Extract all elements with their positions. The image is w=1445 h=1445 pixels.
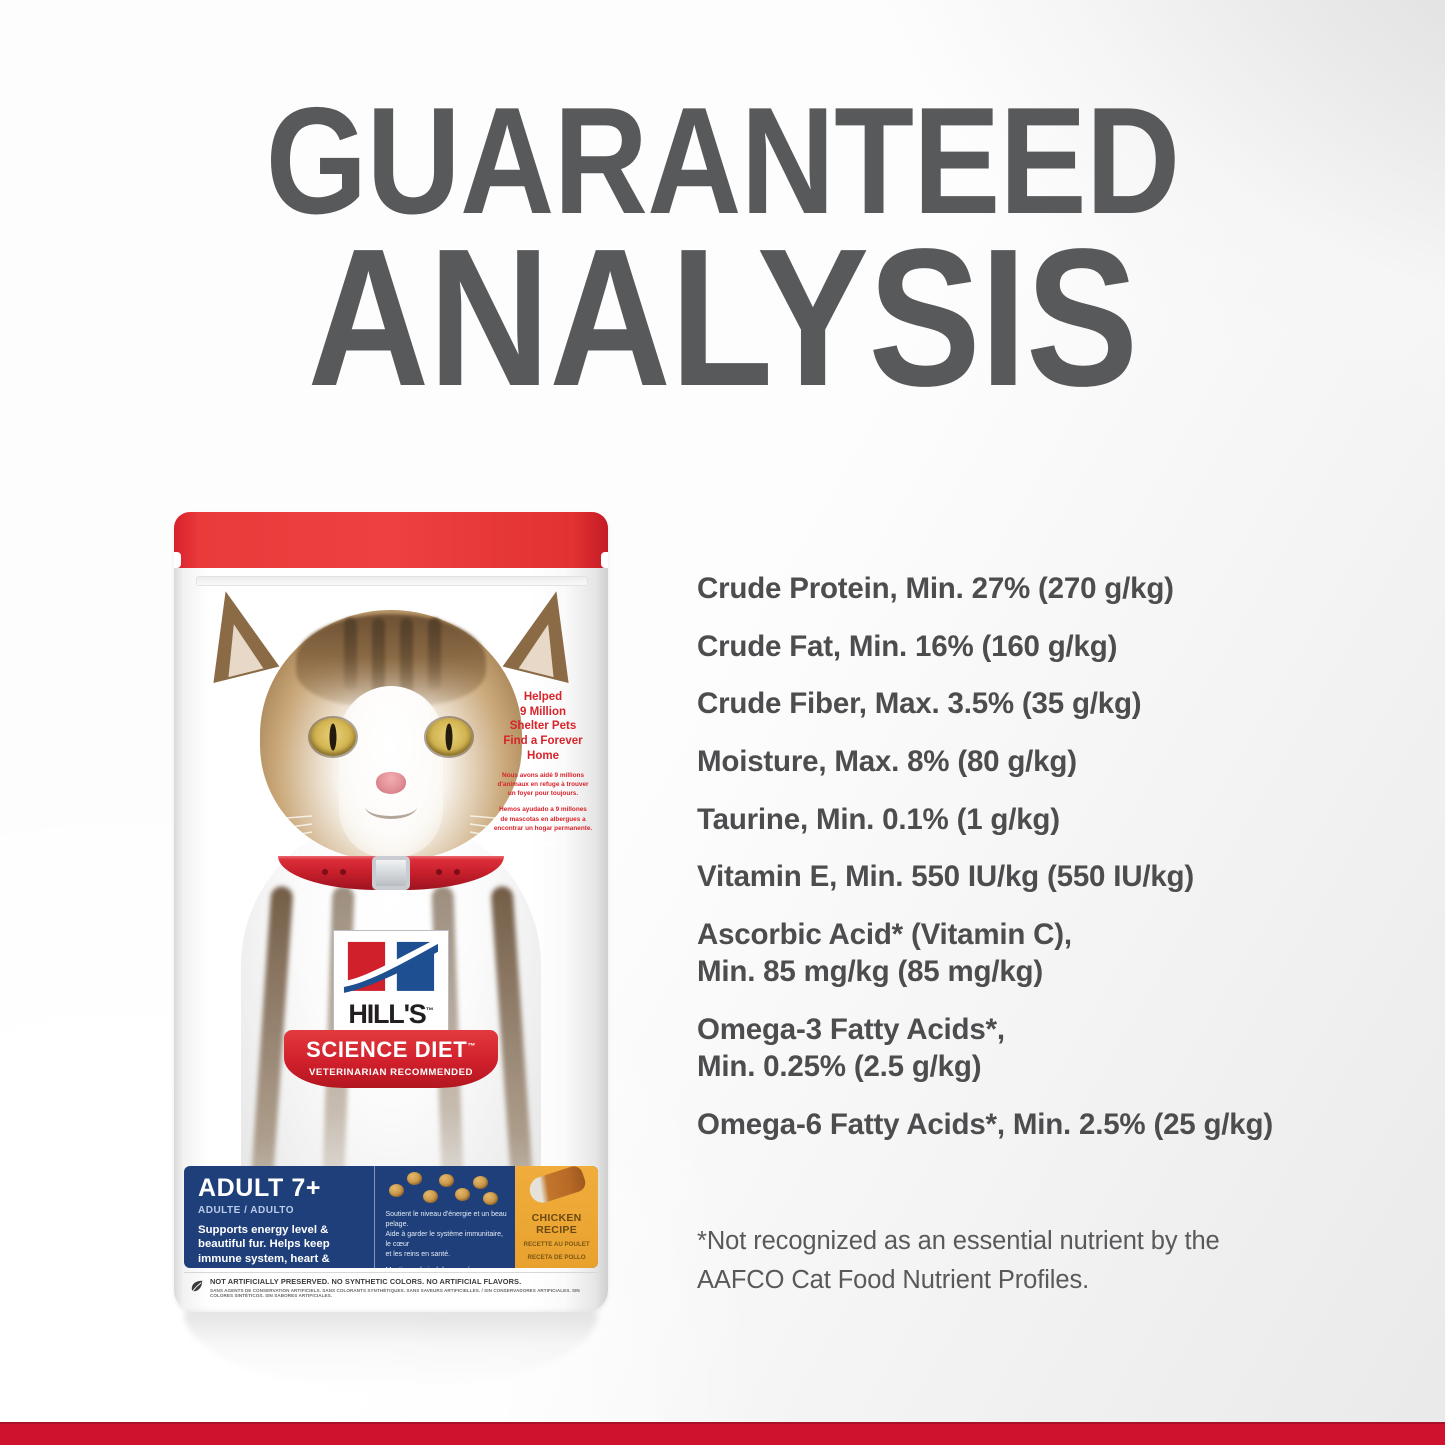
kibble-cluster [383, 1170, 503, 1210]
list-item: Taurine, Min. 0.1% (1 g/kg) [697, 801, 1397, 838]
forehead-stripe [428, 618, 441, 690]
forehead-stripe [344, 618, 357, 690]
collar-hole [322, 869, 328, 875]
list-item: Moisture, Max. 8% (80 g/kg) [697, 743, 1397, 780]
cat-nose [376, 772, 406, 794]
info-panel-middle: Soutient le niveau d'énergie et un beau … [374, 1166, 515, 1268]
cat-whiskers-left [224, 806, 316, 846]
cat-ear-inner [216, 620, 263, 677]
life-stage-label-intl: ADULTE / ADULTO [198, 1205, 374, 1216]
brand-lockup: HILL'S™ SCIENCE DIET™ VETERINARIAN RECOM… [276, 930, 506, 1088]
list-item: Ascorbic Acid* (Vitamin C), Min. 85 mg/k… [697, 916, 1397, 990]
hills-wordmark-text: HILL'S [348, 999, 425, 1029]
cat-pupil [330, 724, 337, 751]
shelter-badge-french: Nous avons aidé 9 millions d'animaux en … [490, 771, 596, 799]
bag-notch-left [174, 552, 181, 568]
bag-notch-right [601, 552, 608, 568]
science-diet-trademark: ™ [467, 1042, 476, 1051]
science-diet-label: SCIENCE DIET™ [284, 1039, 498, 1061]
benefit-text-french: Soutient le niveau d'énergie et un beau … [385, 1210, 507, 1260]
flavor-label: CHICKEN RECIPE [515, 1212, 598, 1237]
science-diet-banner: SCIENCE DIET™ VETERINARIAN RECOMMENDED [284, 1030, 498, 1088]
benefit-text-english: Supports energy level & beautiful fur. H… [198, 1223, 346, 1268]
hills-wordmark: HILL'S™ [334, 999, 448, 1030]
list-item: Vitamin E, Min. 550 IU/kg (550 IU/kg) [697, 858, 1397, 895]
list-item: Crude Protein, Min. 27% (270 g/kg) [697, 570, 1397, 607]
cat-head [260, 610, 522, 860]
kibble-piece [455, 1188, 470, 1201]
science-diet-text: SCIENCE DIET [306, 1037, 467, 1062]
cat-eye-left [310, 718, 356, 756]
cat-mouth [365, 794, 417, 819]
flavor-panel: CHICKEN RECIPE RECETTE AU POULET RECETA … [515, 1166, 598, 1268]
collar-buckle [372, 856, 410, 890]
flavor-label-french: RECETTE AU POULET [515, 1241, 598, 1250]
cat-ear-inner [519, 620, 566, 677]
product-image: Helped 9 Million Shelter Pets Find a For… [158, 512, 618, 1392]
list-item: Crude Fiber, Max. 3.5% (35 g/kg) [697, 685, 1397, 722]
list-item: Omega-6 Fatty Acids*, Min. 2.5% (25 g/kg… [697, 1106, 1397, 1143]
leaf-icon [190, 1279, 204, 1293]
cat-eye-right [426, 718, 472, 756]
collar-hole [340, 869, 346, 875]
benefit-text-spanish: Mantiene el nivel de energía y un pelaje… [385, 1266, 507, 1268]
hills-logo-mark: HILL'S™ [333, 930, 449, 1036]
bag-footer-claim: NOT ARTIFICIALLY PRESERVED. NO SYNTHETIC… [184, 1272, 598, 1298]
kibble-piece [423, 1190, 438, 1203]
product-bag: Helped 9 Million Shelter Pets Find a For… [174, 512, 608, 1312]
hills-shield-icon [342, 938, 440, 995]
bottom-accent-bar [0, 1422, 1445, 1445]
shelter-badge-spanish: Hemos ayudado a 9 millones de mascotas e… [490, 805, 596, 833]
bag-reflection [184, 1312, 598, 1390]
shelter-pets-badge: Helped 9 Million Shelter Pets Find a For… [490, 690, 596, 833]
page-title-line-2: ANALYSIS [101, 228, 1344, 408]
kibble-piece [473, 1176, 488, 1189]
bag-info-panel: ADULT 7+ ADULTE / ADULTO Supports energy… [184, 1166, 598, 1268]
flavor-label-spanish: RECETA DE POLLO [515, 1254, 598, 1263]
kibble-piece [389, 1184, 404, 1197]
list-item: Crude Fat, Min. 16% (160 g/kg) [697, 628, 1397, 665]
kibble-piece [483, 1192, 498, 1205]
preservative-claim-english: NOT ARTIFICIALLY PRESERVED. NO SYNTHETIC… [210, 1277, 598, 1286]
guaranteed-analysis-list: Crude Protein, Min. 27% (270 g/kg) Crude… [697, 570, 1397, 1163]
cat-pupil [446, 724, 453, 751]
kibble-piece [439, 1174, 454, 1187]
guaranteed-analysis-page: GUARANTEED ANALYSIS Crude Protein, Min. … [0, 0, 1445, 1445]
life-stage-label: ADULT 7+ [198, 1176, 374, 1201]
kibble-piece [407, 1172, 422, 1185]
collar-hole [454, 869, 460, 875]
collar-hole [436, 869, 442, 875]
cat-photo: Helped 9 Million Shelter Pets Find a For… [174, 584, 608, 1244]
list-item: Omega-3 Fatty Acids*, Min. 0.25% (2.5 g/… [697, 1011, 1397, 1085]
bag-top-band [174, 512, 608, 568]
preservative-claim-intl: SANS AGENTS DE CONSERVATION ARTIFICIELS.… [210, 1288, 598, 1298]
chicken-drumstick-icon [526, 1166, 587, 1206]
info-panel-left: ADULT 7+ ADULTE / ADULTO Supports energy… [184, 1166, 374, 1268]
cat-ear-left [193, 583, 280, 683]
cat-ear-right [503, 583, 590, 683]
vet-recommended-label: VETERINARIAN RECOMMENDED [284, 1067, 498, 1078]
hills-trademark: ™ [426, 1006, 434, 1015]
shelter-badge-title: Helped 9 Million Shelter Pets Find a For… [490, 690, 596, 764]
analysis-footnote: *Not recognized as an essential nutrient… [697, 1222, 1337, 1300]
